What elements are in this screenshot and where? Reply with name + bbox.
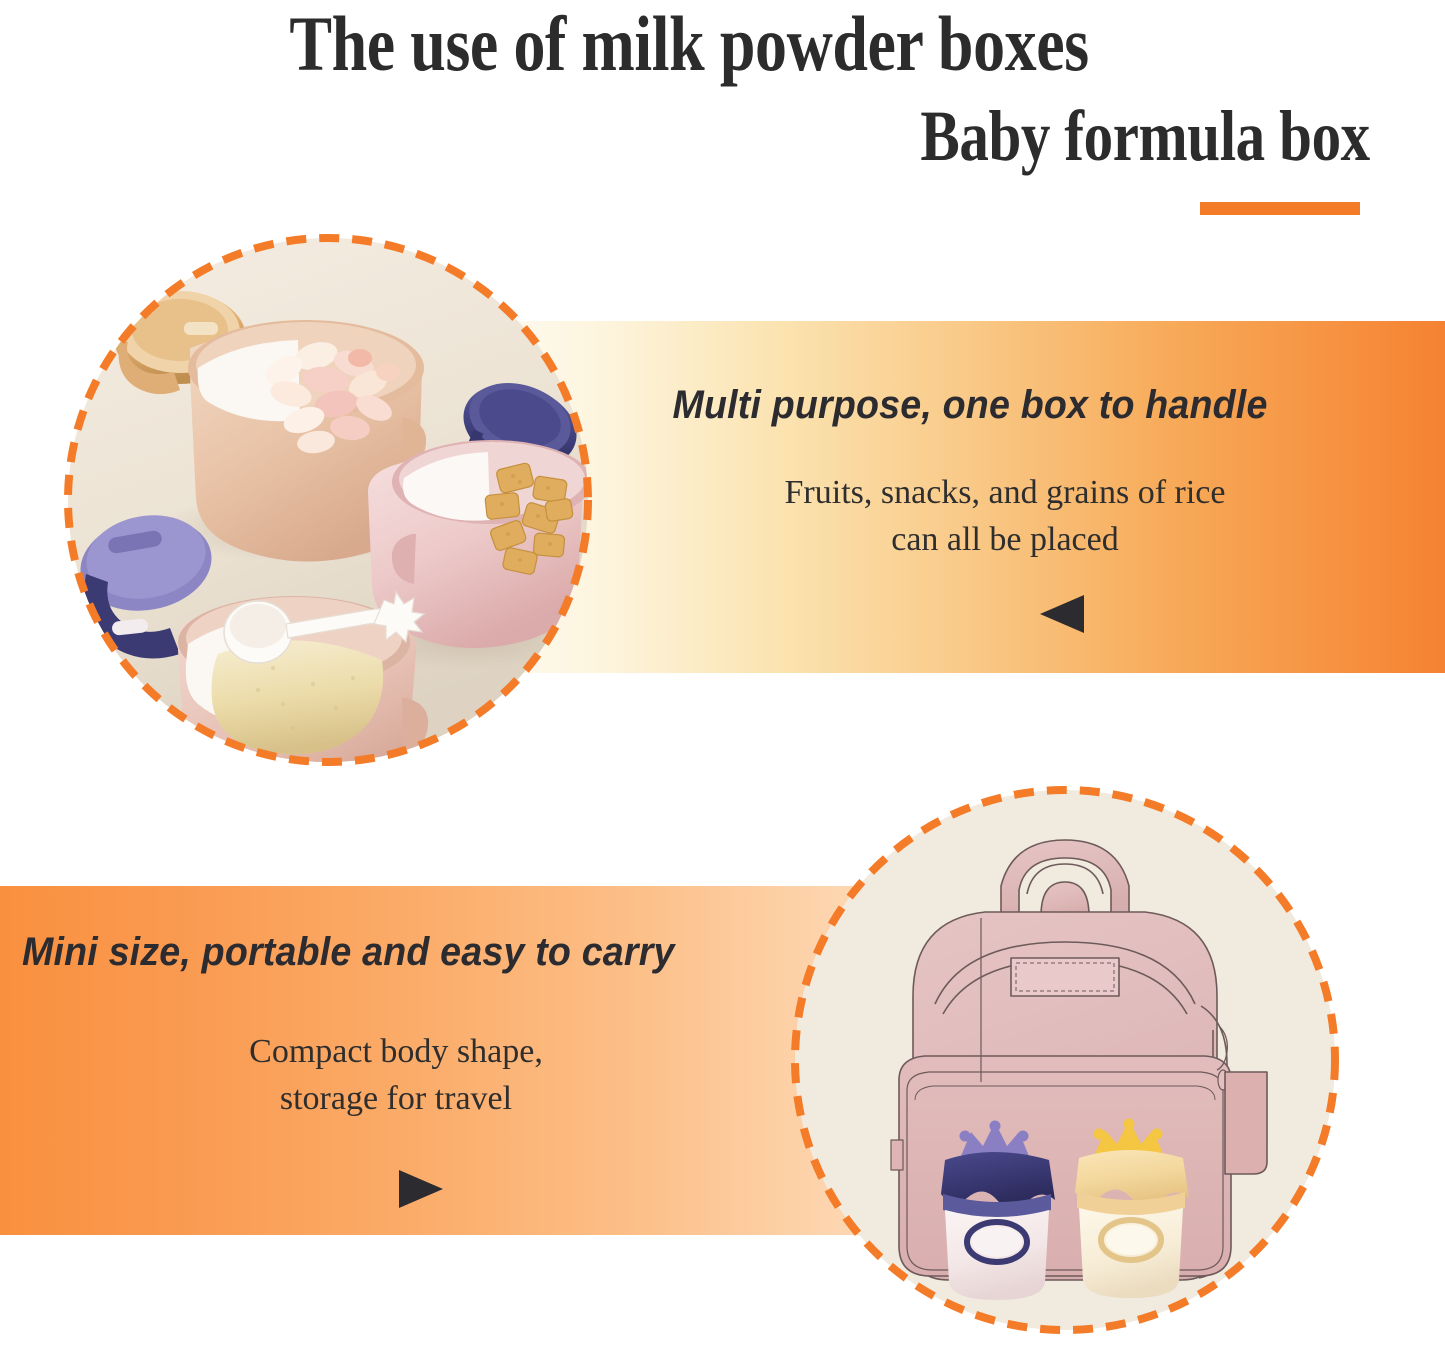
page-title-line-1: The use of milk powder boxes [124,0,1254,90]
formula-boxes-photo [68,238,588,762]
banner-subtext-multi-purpose: Fruits, snacks, and grains of rice can a… [675,469,1335,563]
backpack-photo [795,790,1335,1330]
banner-subtext-line-1: Compact body shape, [86,1028,706,1075]
title-accent-rule [1200,202,1360,215]
banner-heading-multi-purpose: Multi purpose, one box to handle [524,381,1417,429]
page-title-line-2: Baby formula box [248,92,1378,180]
triangle-left-icon [1040,595,1084,633]
banner-multi-purpose: Multi purpose, one box to handle Fruits,… [495,321,1445,673]
banner-subtext-line-1: Fruits, snacks, and grains of rice [675,469,1335,516]
banner-subtext-line-2: can all be placed [675,516,1335,563]
pink-box-powder [178,592,428,762]
banner-heading-mini-size: Mini size, portable and easy to carry [22,928,675,976]
formula-boxes-illustration [68,238,588,762]
triangle-right-icon [399,1170,443,1208]
infographic-page: The use of milk powder boxes Baby formul… [0,0,1445,1349]
banner-subtext-line-2: storage for travel [86,1075,706,1122]
banner-subtext-mini-size: Compact body shape, storage for travel [86,1028,706,1122]
title-block: The use of milk powder boxes Baby formul… [0,0,1400,230]
backpack-illustration [795,790,1335,1330]
